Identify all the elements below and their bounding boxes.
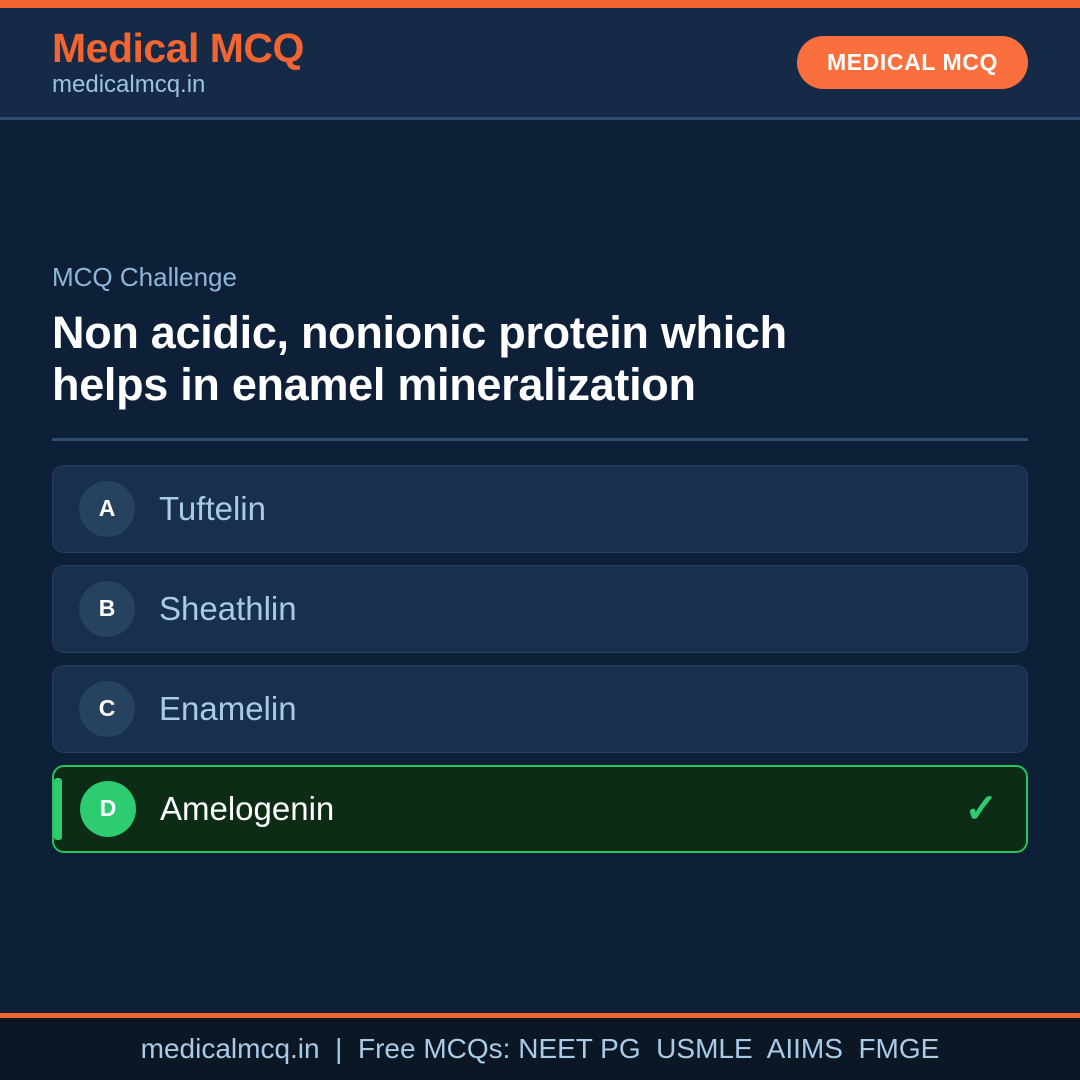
check-icon-d: ✓ (964, 789, 998, 829)
content-area: MCQ Challenge Non acidic, nonionic prote… (0, 120, 1080, 1013)
option-label-a: Tuftelin (159, 492, 266, 525)
option-label-c: Enamelin (159, 692, 297, 725)
brand-subtitle: medicalmcq.in (52, 71, 304, 99)
header-bar: Medical MCQ medicalmcq.in MEDICAL MCQ (0, 8, 1080, 120)
option-row-b[interactable]: B Sheathlin ✓ (52, 565, 1028, 653)
option-row-c[interactable]: C Enamelin ✓ (52, 665, 1028, 753)
option-letter-badge-c: C (79, 681, 135, 737)
top-spacer (52, 120, 1028, 262)
brand-badge: MEDICAL MCQ (797, 36, 1028, 89)
option-label-d: Amelogenin (160, 792, 334, 825)
option-row-d[interactable]: D Amelogenin ✓ (52, 765, 1028, 853)
top-accent-rule (0, 0, 1080, 8)
bottom-spacer (52, 853, 1028, 1013)
option-letter-badge-b: B (79, 581, 135, 637)
brand: Medical MCQ medicalmcq.in (52, 27, 304, 99)
question-divider (52, 438, 1028, 441)
option-letter-badge-a: A (79, 481, 135, 537)
question-text: Non acidic, nonionic protein which helps… (52, 307, 882, 411)
footer-text: medicalmcq.in | Free MCQs: NEET PG USMLE… (141, 1033, 940, 1065)
options-list: A Tuftelin ✓ B Sheathlin ✓ C Enamelin ✓ … (52, 465, 1028, 853)
footer-bar: medicalmcq.in | Free MCQs: NEET PG USMLE… (0, 1018, 1080, 1080)
option-row-a[interactable]: A Tuftelin ✓ (52, 465, 1028, 553)
option-letter-badge-d: D (80, 781, 136, 837)
kicker-label: MCQ Challenge (52, 262, 1028, 293)
option-label-b: Sheathlin (159, 592, 297, 625)
brand-title: Medical MCQ (52, 27, 304, 70)
mcq-card: Medical MCQ medicalmcq.in MEDICAL MCQ MC… (0, 0, 1080, 1080)
